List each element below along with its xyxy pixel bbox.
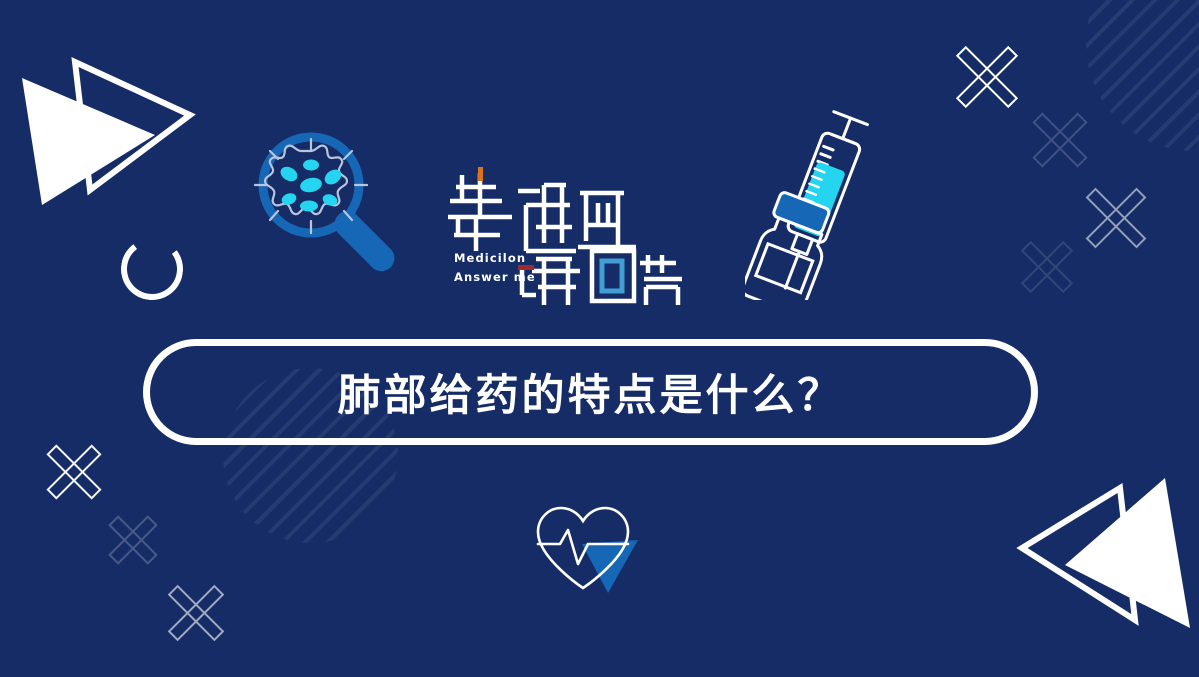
x-mark-decor	[42, 440, 106, 504]
x-mark-decor	[1028, 108, 1092, 172]
page-title: 肺部给药的特点是什么？	[338, 361, 844, 423]
x-mark-decor	[1080, 182, 1152, 254]
brand-logo: Medicilon Answer me	[440, 155, 690, 305]
x-mark-decor	[163, 580, 229, 646]
slide-canvas: Medicilon Answer me 肺部给药的特点是什么？	[0, 0, 1199, 677]
logo-accent-blue	[602, 261, 622, 291]
triangle-pair-bottom-right-icon	[1000, 470, 1199, 645]
logo-accent-orange	[478, 167, 483, 181]
stripe-circle-decor-2	[1086, 0, 1199, 151]
syringe-vial-icon	[745, 105, 895, 300]
x-mark-decor	[950, 40, 1024, 114]
triangle-pair-top-left-icon	[10, 50, 210, 225]
open-arc-decor	[117, 234, 187, 304]
brand-logo-en-line2: Answer me	[454, 270, 536, 284]
title-pill: 肺部给药的特点是什么？	[143, 339, 1038, 445]
brand-logo-en-line1: Medicilon	[454, 251, 526, 265]
heart-pulse-icon	[520, 492, 650, 597]
magnifier-virus-icon	[243, 123, 428, 278]
x-mark-decor	[105, 512, 161, 568]
x-mark-decor	[1017, 237, 1077, 297]
